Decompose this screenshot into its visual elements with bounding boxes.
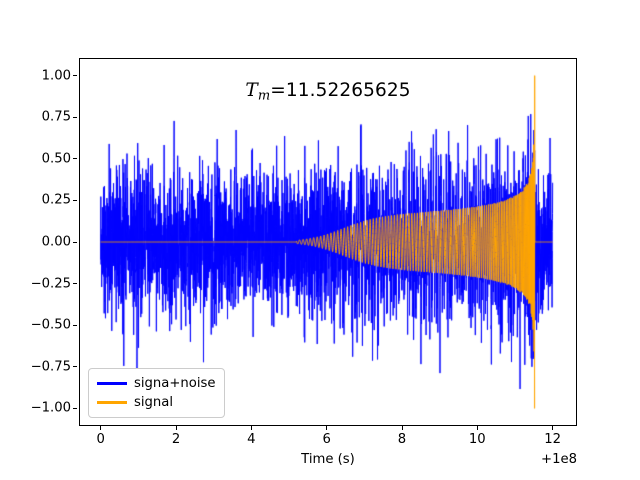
x-tick-mark xyxy=(326,426,327,430)
chart-legend: signa+noise signal xyxy=(88,368,225,418)
x-axis-offset-text: +1e8 xyxy=(497,452,577,467)
x-tick-label: 10 xyxy=(447,432,507,447)
x-tick-mark xyxy=(176,426,177,430)
matplotlib-figure: −1.00−0.75−0.50−0.250.000.250.500.751.00… xyxy=(0,0,640,480)
legend-entry-signa-noise: signa+noise xyxy=(95,374,218,393)
legend-label-signal: signal xyxy=(134,396,173,409)
x-tick-label: 4 xyxy=(221,432,281,447)
x-tick-label: 12 xyxy=(523,432,583,447)
x-tick-mark xyxy=(552,426,553,430)
x-tick-mark xyxy=(100,426,101,430)
legend-label-signa-noise: signa+noise xyxy=(134,377,215,390)
legend-entry-signal: signal xyxy=(95,393,218,412)
x-tick-mark xyxy=(402,426,403,430)
x-tick-mark xyxy=(477,426,478,430)
x-tick-label: 6 xyxy=(297,432,357,447)
legend-swatch-signa-noise xyxy=(97,382,127,384)
x-tick-label: 2 xyxy=(146,432,206,447)
x-tick-mark xyxy=(251,426,252,430)
x-tick-label: 8 xyxy=(372,432,432,447)
x-tick-label: 0 xyxy=(71,432,131,447)
legend-swatch-signal xyxy=(97,401,127,403)
